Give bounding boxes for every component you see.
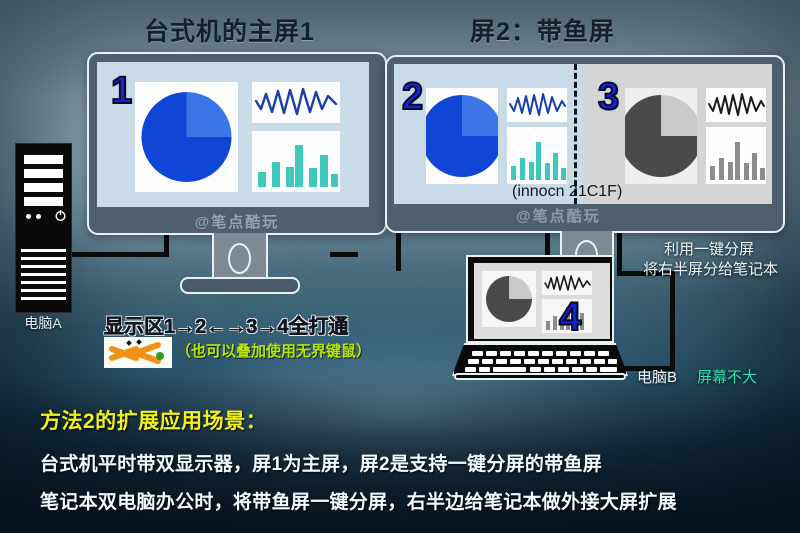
laptop-key: [572, 367, 583, 372]
laptop-key: [472, 351, 483, 356]
monitor-2-left-bar-tile: [507, 127, 567, 184]
split-note-line-2: 将右半屏分给笔记本: [643, 258, 778, 279]
pc-tower-a: [15, 143, 72, 313]
laptop-key: [556, 351, 567, 356]
laptop-key: [598, 351, 609, 356]
laptop-key: [600, 367, 617, 372]
monitor-1-screen[interactable]: 1: [97, 62, 369, 207]
tower-led-1: [26, 214, 31, 219]
watermark: @笔点酷玩: [195, 211, 280, 232]
monitor2-left-bar-chart: [507, 127, 567, 184]
laptop-line-chart: [542, 271, 592, 295]
monitor-1-number: 1: [111, 72, 132, 110]
tower-slot: [24, 169, 63, 178]
laptop-key: [558, 367, 569, 372]
monitor-1: 1: [87, 52, 387, 235]
cable-pc-to-monitor1-v: [164, 234, 169, 256]
monitor-1-line-tile: [252, 82, 340, 123]
monitor1-line-chart: [252, 82, 340, 123]
monitor-1-pie-tile: [135, 82, 238, 192]
monitor2-right-bar-chart: [706, 127, 766, 184]
infographic-canvas: 台式机的主屏1 屏2：带鱼屏 电脑A 1: [0, 0, 800, 533]
monitor-2-right-line-tile: [706, 88, 766, 122]
laptop-key: [552, 359, 563, 364]
monitor-1-chin: @笔点酷玩: [87, 207, 387, 235]
laptop-key: [584, 351, 595, 356]
laptop-key: [530, 367, 541, 372]
bottom-line-2: 笔记本双电脑办公时，将带鱼屏一键分屏，右半边给笔记本做外接大屏扩展: [40, 487, 780, 514]
laptop-key: [514, 351, 525, 356]
monitor-2-left-pie-tile: [426, 88, 498, 184]
split-note-line-1: 利用一键分屏: [664, 238, 754, 259]
laptop-keyboard-base: [452, 343, 628, 376]
tower-slot: [24, 183, 63, 192]
tower-vent: [21, 281, 66, 284]
monitor-2-right-pie-tile: [625, 88, 697, 184]
watermark-secondary: @笔点酷玩: [516, 205, 601, 226]
bottom-description-block: 方法2的扩展应用场景： 台式机平时带双显示器，屏1为主屏，屏2是支持一键分屏的带…: [40, 405, 780, 525]
laptop-line-tile: [542, 271, 592, 295]
laptop-key: [468, 359, 479, 364]
laptop-lid: 4: [466, 255, 614, 343]
heading-second-monitor: 屏2：带鱼屏: [470, 12, 615, 48]
tower-vent: [21, 257, 66, 260]
monitor-2-left-line-tile: [507, 88, 567, 122]
laptop-key: [566, 359, 577, 364]
tower-slot: [24, 155, 63, 164]
laptop-pie-chart: [482, 271, 536, 327]
laptop-key: [524, 359, 535, 364]
tower-vent: [21, 249, 66, 252]
pc-b-label: 电脑B: [637, 366, 677, 387]
bottom-heading: 方法2的扩展应用场景：: [40, 405, 780, 435]
monitor-1-stand-base: [180, 277, 300, 294]
laptop-key: [580, 359, 591, 364]
laptop-key: [542, 351, 553, 356]
cable-pc-to-monitor1-h: [57, 252, 169, 257]
laptop-key: [500, 351, 511, 356]
monitor-1-stand-cable-hole: [228, 243, 251, 274]
tower-slot: [24, 197, 63, 206]
laptop-foot: [454, 373, 626, 380]
monitor-2-right-bar-tile: [706, 127, 766, 184]
laptop-key: [465, 367, 476, 372]
laptop-key: [482, 359, 493, 364]
barrier-mouse-icon: [104, 337, 172, 368]
laptop-key: [496, 359, 507, 364]
monitor-2-left-number: 2: [402, 78, 423, 116]
laptop-number: 4: [559, 297, 581, 337]
laptop-key: [486, 351, 497, 356]
laptop-key: [594, 359, 605, 364]
monitor2-right-pie-chart: [625, 88, 697, 184]
monitor-1-bar-tile: [252, 131, 340, 192]
power-button-icon[interactable]: [54, 209, 67, 222]
cable-pc-to-monitor2-v1: [396, 233, 401, 271]
tower-vent: [21, 289, 66, 292]
tower-vent: [21, 297, 66, 300]
laptop-pc-b: 4: [452, 255, 628, 380]
laptop-key: [493, 367, 526, 372]
monitor-2-model-label: (innocn 21C1F): [512, 183, 622, 201]
monitor2-left-line-chart: [507, 88, 567, 122]
laptop-key: [510, 359, 521, 364]
monitor2-left-pie-chart: [426, 88, 498, 184]
cable-laptop-run-v: [670, 271, 675, 371]
tower-vent: [21, 273, 66, 276]
laptop-key: [570, 351, 581, 356]
laptop-key: [538, 359, 549, 364]
laptop-key: [586, 367, 597, 372]
monitor-2-right-number: 3: [598, 78, 619, 116]
bottom-line-1: 台式机平时带双显示器，屏1为主屏，屏2是支持一键分屏的带鱼屏: [40, 449, 780, 476]
laptop-key: [608, 359, 617, 364]
laptop-key: [479, 367, 490, 372]
laptop-key: [528, 351, 539, 356]
laptop-pie-tile: [482, 271, 536, 327]
barrier-mouse-note: （也可以叠加使用无界键鼠）: [176, 340, 371, 361]
monitor1-bar-chart: [252, 131, 340, 192]
pc-a-label: 电脑A: [14, 313, 72, 333]
tower-vent: [21, 265, 66, 268]
monitor2-right-line-chart: [706, 88, 766, 122]
pc-b-note: 屏幕不大: [697, 366, 757, 387]
heading-main-monitor: 台式机的主屏1: [144, 12, 315, 48]
display-flow-text: 显示区1→2←→3→4全打通: [104, 310, 349, 339]
tower-led-2: [36, 214, 41, 219]
monitor1-pie-chart: [135, 82, 238, 192]
laptop-key: [544, 367, 555, 372]
laptop-screen[interactable]: 4: [474, 263, 610, 339]
cable-monitor1-to-monitor2-h: [330, 252, 358, 257]
